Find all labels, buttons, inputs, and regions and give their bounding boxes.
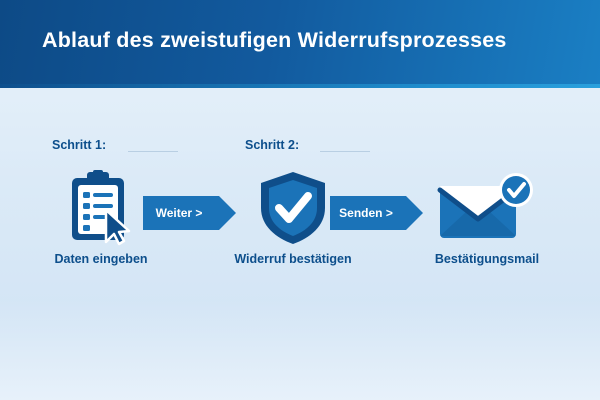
clipboard-form-icon <box>62 170 140 251</box>
bottom-gradient <box>0 300 600 400</box>
node-caption-confirm: Widerruf bestätigen <box>234 252 351 266</box>
process-node-confirmation-mail: Bestätigungsmail <box>420 170 554 280</box>
step-1-rule <box>128 151 178 152</box>
arrow-senden-body: Senden > <box>330 196 406 230</box>
arrow-weiter-label: Weiter > <box>156 207 203 219</box>
arrow-senden: Senden > <box>330 196 406 230</box>
shield-check-icon <box>255 170 331 251</box>
step-2-label: Schritt 2: <box>245 138 299 152</box>
node-caption-confirmation-mail: Bestätigungsmail <box>435 252 539 266</box>
envelope-check-icon <box>436 170 538 249</box>
step-1-label: Schritt 1: <box>52 138 106 152</box>
arrow-weiter: Weiter > <box>143 196 219 230</box>
arrow-senden-label: Senden > <box>339 207 393 219</box>
process-node-data-entry: Daten eingeben <box>48 170 154 280</box>
header-accent-bar <box>0 84 600 88</box>
node-caption-data-entry: Daten eingeben <box>54 252 147 266</box>
arrow-weiter-body: Weiter > <box>143 196 219 230</box>
page-title: Ablauf des zweistufigen Widerrufsprozess… <box>42 28 507 53</box>
step-2-rule <box>320 151 370 152</box>
diagram-canvas: Ablauf des zweistufigen Widerrufsprozess… <box>0 0 600 400</box>
